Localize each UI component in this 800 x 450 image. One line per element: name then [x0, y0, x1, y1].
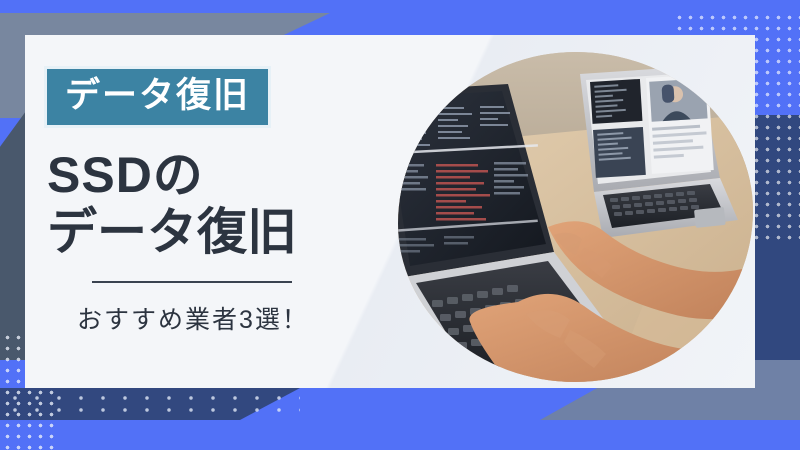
subtitle: おすすめ業者3選！	[77, 300, 377, 336]
divider-rule	[92, 281, 292, 283]
headline-line-2: データ復旧	[47, 204, 377, 261]
hero-photo	[398, 52, 753, 382]
bottom-navy-band	[0, 388, 300, 420]
category-badge: データ復旧	[47, 69, 268, 125]
headline-line-1: SSDの	[47, 147, 377, 204]
text-column: データ復旧 SSDの データ復旧 おすすめ業者3選！	[47, 69, 377, 336]
top-slate-bar	[0, 13, 330, 35]
banner-graphic: データ復旧 SSDの データ復旧 おすすめ業者3選！	[0, 0, 800, 450]
page-title: SSDの データ復旧	[47, 147, 377, 261]
right-navy-band	[750, 115, 800, 385]
bottom-slate-wedge	[540, 388, 800, 420]
